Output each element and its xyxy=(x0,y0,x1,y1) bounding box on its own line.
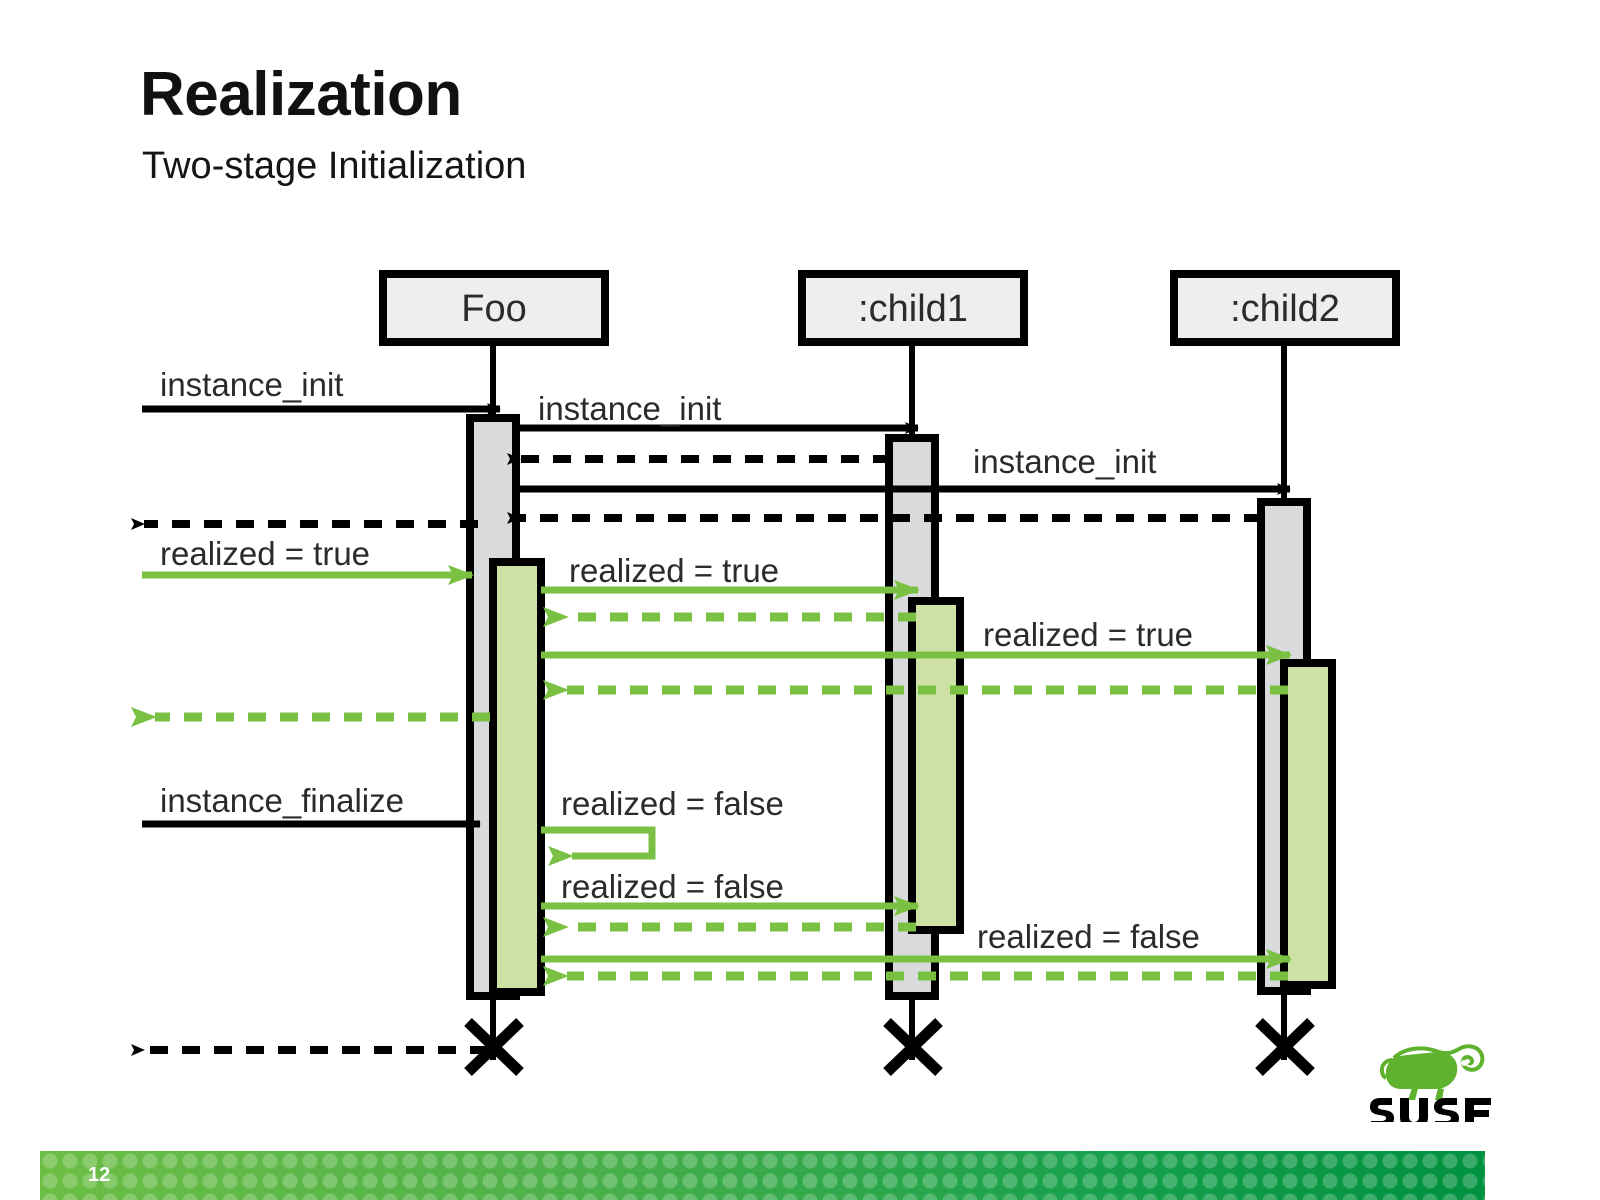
message-label-realized-false-3: realized = false xyxy=(977,918,1200,955)
lifeline-head-foo[interactable]: Foo xyxy=(383,274,605,342)
message-label-instance-finalize: instance_finalize xyxy=(160,782,404,819)
message-label-realized-false-1: realized = false xyxy=(561,785,784,822)
lifeline-head-child1[interactable]: :child1 xyxy=(802,274,1024,342)
message-label-instance-init-1: instance_init xyxy=(160,366,343,403)
activation-bar-green-child2 xyxy=(1284,663,1332,985)
activation-bar-green-foo xyxy=(493,562,541,992)
chameleon-icon xyxy=(1382,1046,1483,1100)
message-label-instance-init-2: instance_init xyxy=(538,390,721,427)
lifeline-head-child2[interactable]: :child2 xyxy=(1174,274,1396,342)
message-self-call-realized-false-foo[interactable] xyxy=(541,830,652,856)
message-label-instance-init-3: instance_init xyxy=(973,443,1156,480)
page-number: 12 xyxy=(88,1164,110,1187)
message-label-realized-true-3: realized = true xyxy=(983,616,1193,653)
lifeline-label-child2: :child2 xyxy=(1230,288,1340,330)
slide-canvas: Realization Two-stage Initialization Foo… xyxy=(0,0,1600,1200)
footer-bar xyxy=(40,1151,1485,1200)
message-label-realized-true-1: realized = true xyxy=(160,535,370,572)
lifeline-label-foo: Foo xyxy=(461,288,526,330)
message-label-realized-false-2: realized = false xyxy=(561,868,784,905)
sequence-diagram: Foo :child1 :child2 xyxy=(0,0,1600,1200)
activation-bar-green-child1 xyxy=(912,601,960,930)
suse-wordmark xyxy=(1370,1098,1502,1122)
message-label-realized-true-2: realized = true xyxy=(569,552,779,589)
suse-logo xyxy=(1368,1036,1538,1122)
lifeline-label-child1: :child1 xyxy=(858,288,968,330)
